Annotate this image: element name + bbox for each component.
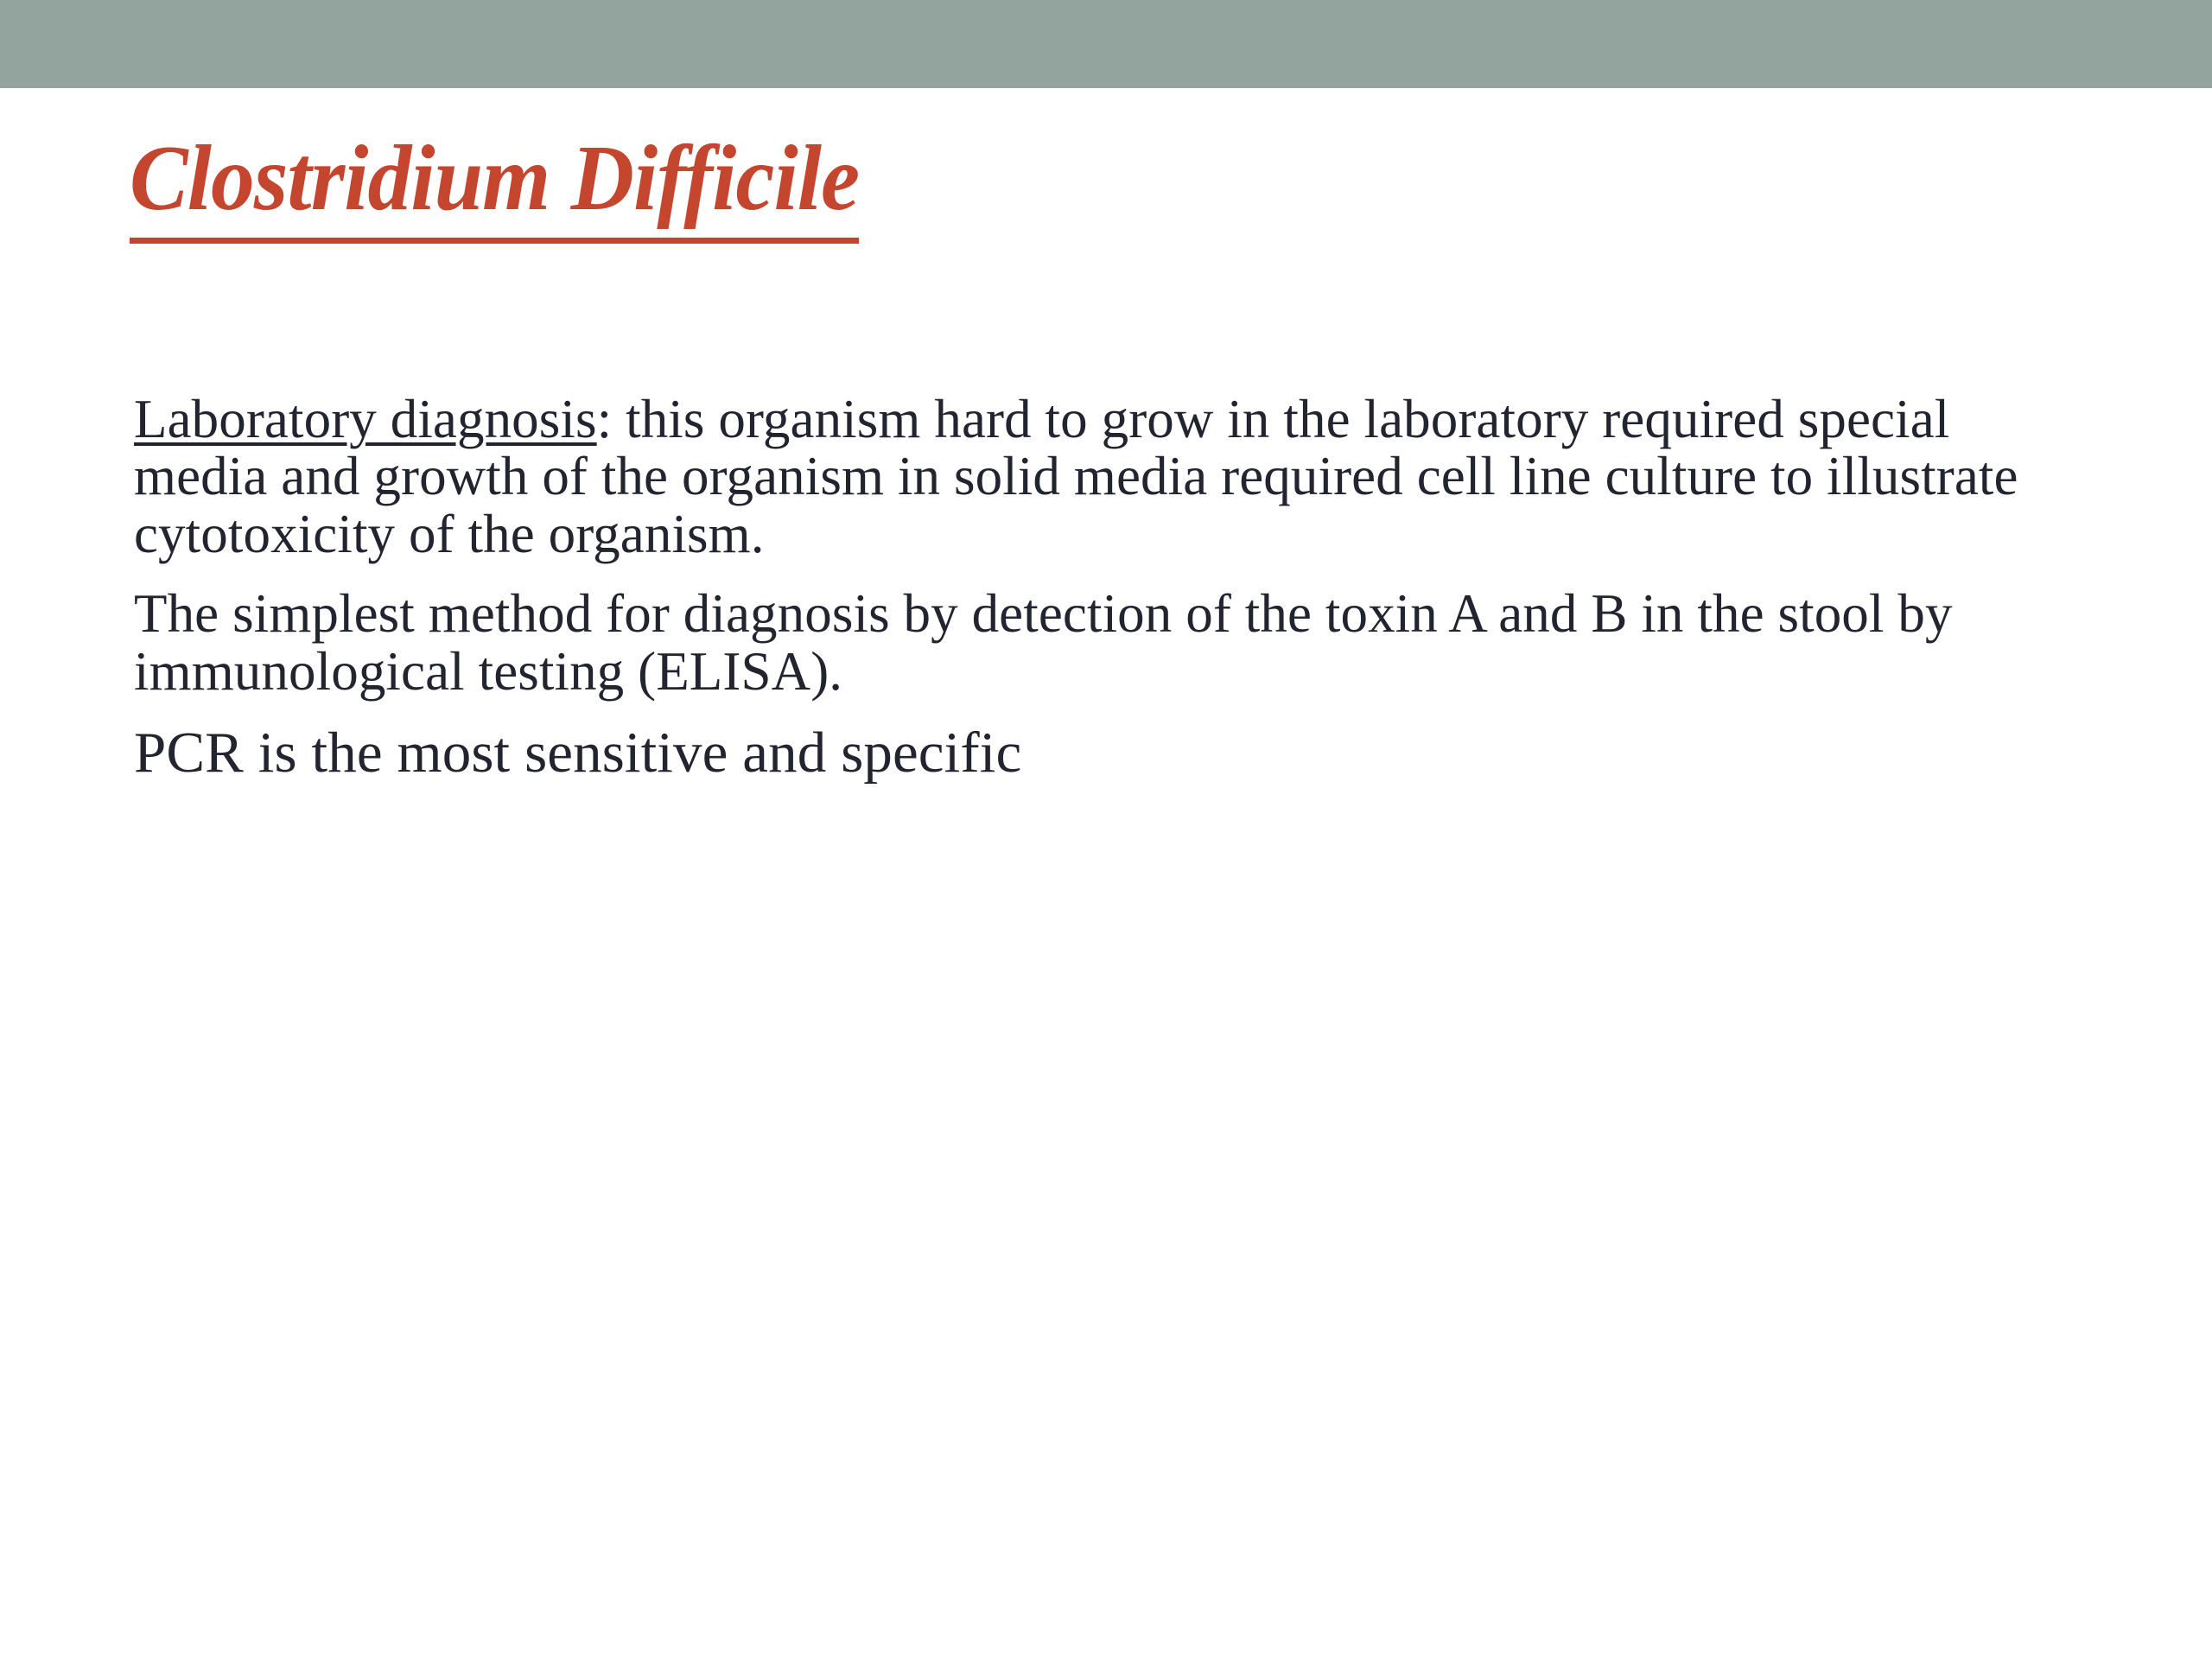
- laboratory-diagnosis-label: Laboratory diagnosis: [134, 389, 597, 449]
- laboratory-diagnosis-separator: :: [597, 389, 626, 449]
- paragraph-laboratory-diagnosis: Laboratory diagnosis: this organism hard…: [134, 391, 2082, 563]
- paragraph-simplest-method: The simplest method for diagnosis by det…: [134, 585, 2082, 700]
- page-title: Clostridium Difficile: [130, 130, 859, 244]
- title-container: Clostridium Difficile: [130, 130, 2031, 244]
- header-band: [0, 0, 2212, 88]
- paragraph-pcr: PCR is the most sensitive and specific: [134, 722, 2082, 784]
- body-content: Laboratory diagnosis: this organism hard…: [134, 391, 2082, 806]
